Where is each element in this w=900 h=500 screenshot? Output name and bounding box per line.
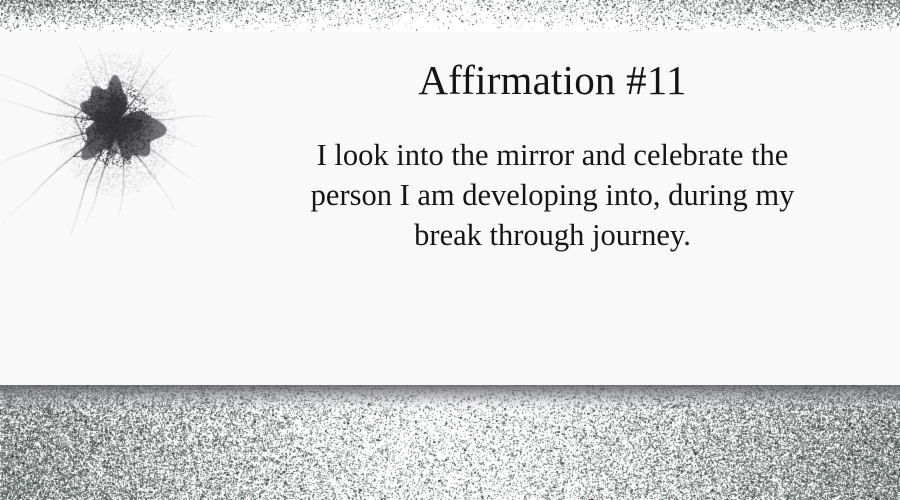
- affirmation-body-text: I look into the mirror and celebrate the…: [225, 135, 880, 255]
- card-drop-shadow: [0, 385, 900, 411]
- page-title: Affirmation #11: [225, 60, 880, 101]
- text-block: Affirmation #11 I look into the mirror a…: [225, 60, 880, 255]
- affirmation-slide: Affirmation #11 I look into the mirror a…: [0, 0, 900, 500]
- top-noise-texture: [0, 0, 900, 34]
- bottom-noise-texture: [0, 385, 900, 500]
